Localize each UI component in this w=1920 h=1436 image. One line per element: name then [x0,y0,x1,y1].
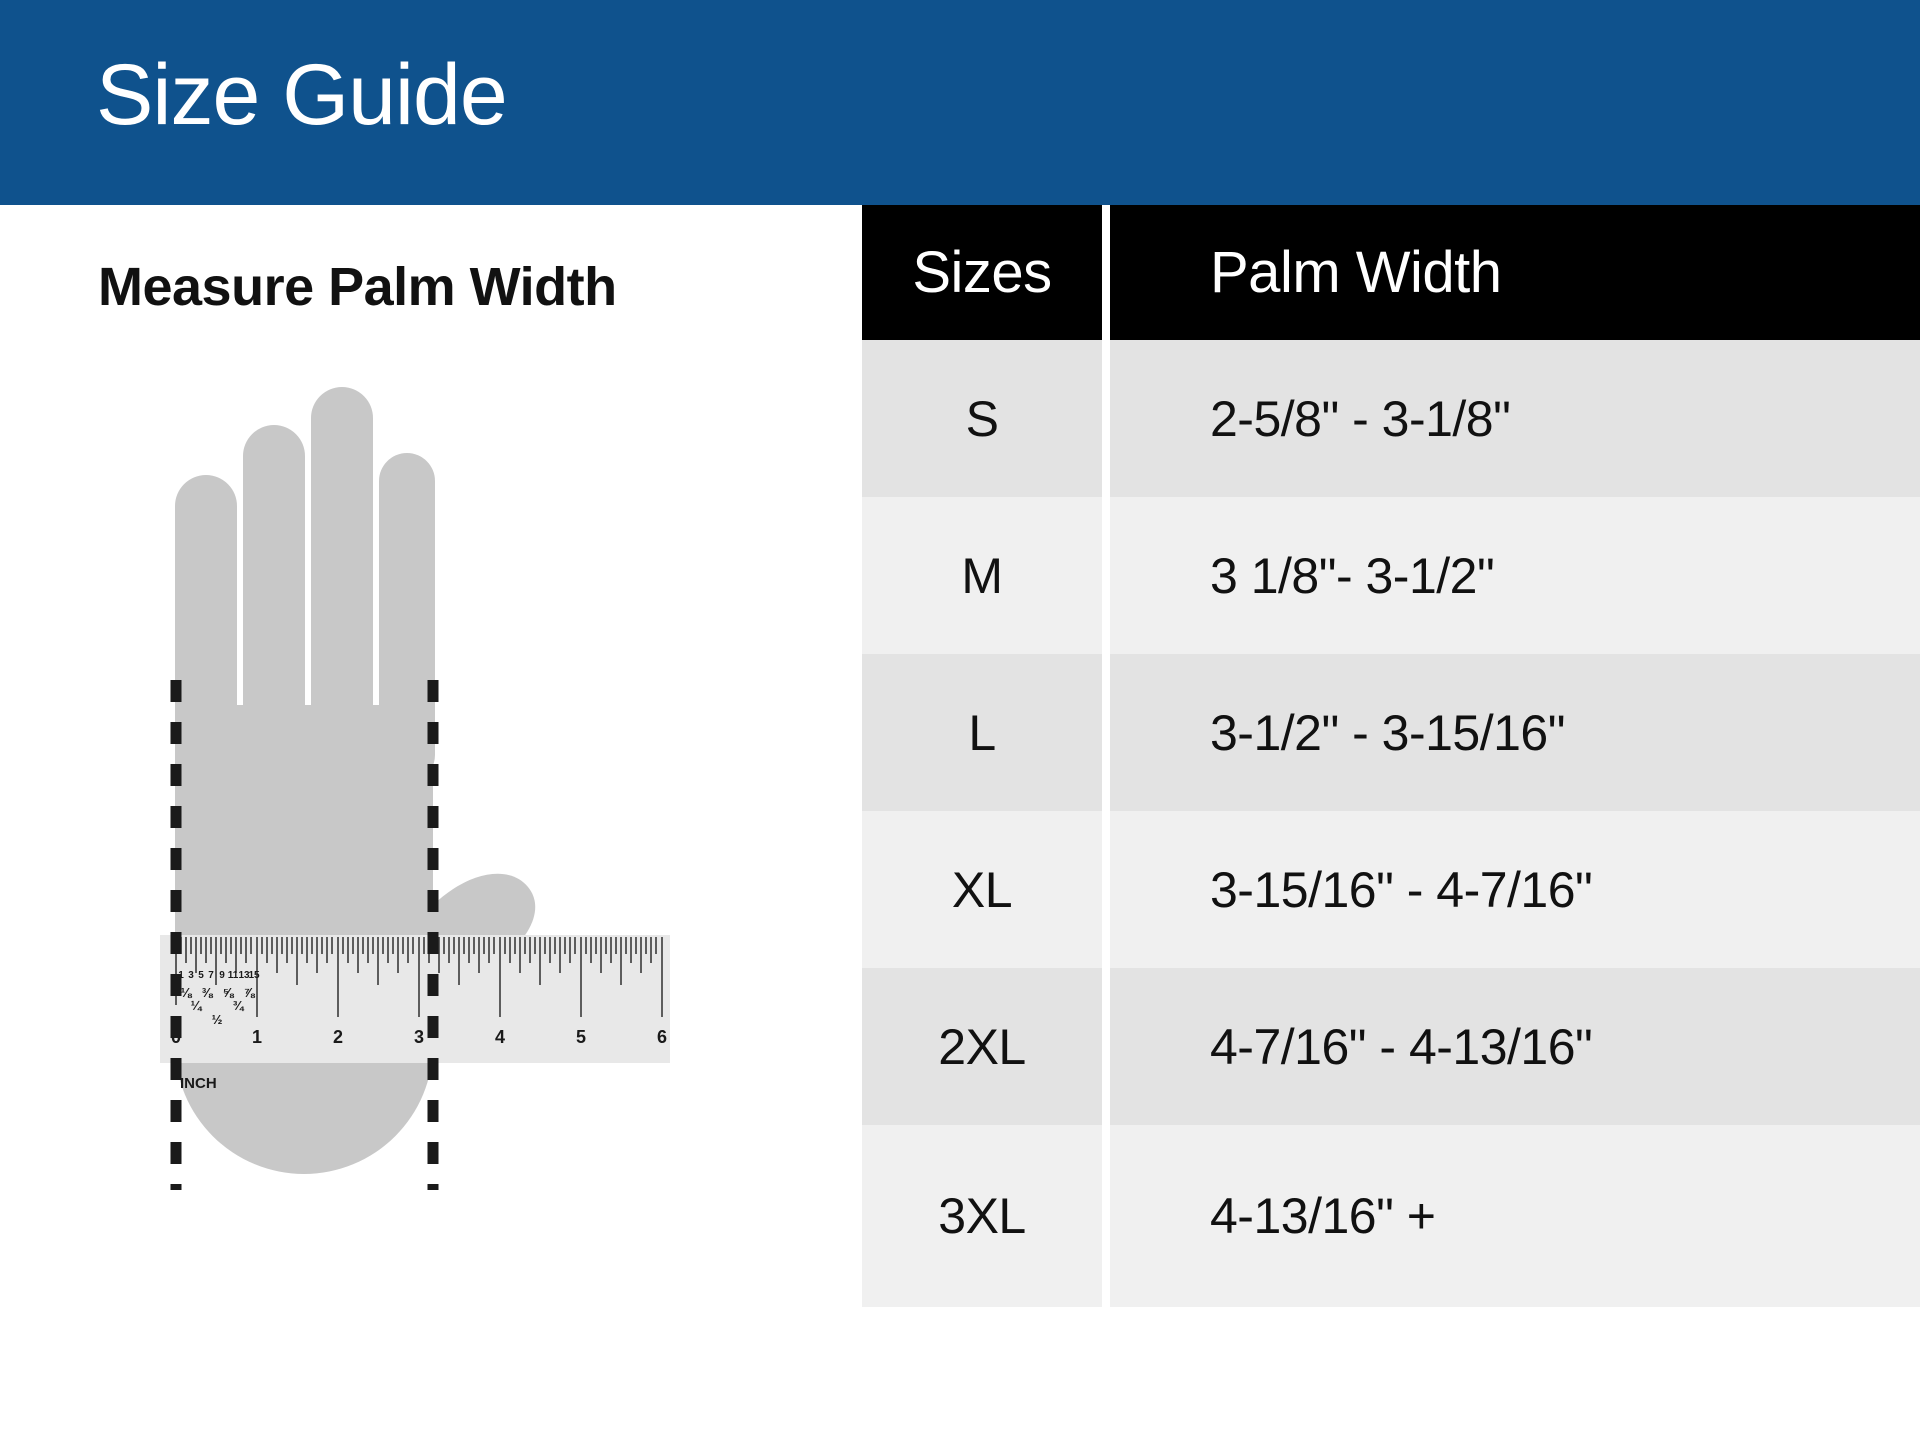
cell-palm-width: 3-1/2" - 3-15/16" [1110,654,1920,811]
svg-text:5: 5 [198,970,204,981]
table-row[interactable]: M 3 1/8"- 3-1/2" [862,497,1920,654]
svg-text:3: 3 [188,970,194,981]
svg-text:1: 1 [252,1027,262,1047]
ruler-unit-label: INCH [180,1075,217,1092]
table-row[interactable]: 3XL 4-13/16" + [862,1125,1920,1307]
cell-palm-width: 4-7/16" - 4-13/16" [1110,968,1920,1125]
table-row[interactable]: S 2-5/8" - 3-1/8" [862,340,1920,497]
cell-size: 2XL [862,968,1102,1125]
svg-text:¾: ¾ [233,998,245,1013]
svg-text:15: 15 [248,970,260,981]
svg-text:9: 9 [219,970,225,981]
cell-palm-width: 2-5/8" - 3-1/8" [1110,340,1920,497]
table-header-row: Sizes Palm Width [862,205,1920,340]
cell-size: S [862,340,1102,497]
ruler-sixteenth-labels: 1 3 5 7 9 11 13 15 [178,970,260,981]
measure-palm-width-heading: Measure Palm Width [98,260,617,314]
hand-ruler-illustration: 1 3 5 7 9 11 13 15 ⅛ ¼ ⅜ ½ ⅝ ¾ ⅞ [0,365,862,1385]
cell-palm-width: 4-13/16" + [1110,1125,1920,1307]
column-divider [1102,654,1110,811]
svg-text:2: 2 [333,1027,343,1047]
cell-size: 3XL [862,1125,1102,1307]
svg-text:4: 4 [495,1027,505,1047]
svg-text:⅜: ⅜ [202,985,214,1000]
svg-text:7: 7 [208,970,214,981]
svg-text:½: ½ [212,1012,223,1027]
table-row[interactable]: L 3-1/2" - 3-15/16" [862,654,1920,811]
svg-text:¼: ¼ [191,998,203,1013]
column-header-palm-width: Palm Width [1110,205,1920,340]
table-row[interactable]: 2XL 4-7/16" - 4-13/16" [862,968,1920,1125]
svg-text:3: 3 [414,1027,424,1047]
svg-text:⅞: ⅞ [244,985,256,1000]
svg-text:11: 11 [228,970,239,981]
cell-size: L [862,654,1102,811]
page-header: Size Guide [0,0,1920,205]
measurement-illustration-panel: Measure Palm Width [0,205,862,1436]
svg-text:6: 6 [657,1027,667,1047]
column-divider [1102,205,1110,340]
column-divider [1102,497,1110,654]
table-row[interactable]: XL 3-15/16" - 4-7/16" [862,811,1920,968]
size-chart-table: Sizes Palm Width S 2-5/8" - 3-1/8" M 3 1… [862,205,1920,1436]
column-divider [1102,1125,1110,1307]
cell-palm-width: 3 1/8"- 3-1/2" [1110,497,1920,654]
column-divider [1102,811,1110,968]
column-header-sizes: Sizes [862,205,1102,340]
column-divider [1102,968,1110,1125]
cell-palm-width: 3-15/16" - 4-7/16" [1110,811,1920,968]
svg-text:5: 5 [576,1027,586,1047]
column-divider [1102,340,1110,497]
cell-size: M [862,497,1102,654]
page-title: Size Guide [96,52,507,138]
cell-size: XL [862,811,1102,968]
